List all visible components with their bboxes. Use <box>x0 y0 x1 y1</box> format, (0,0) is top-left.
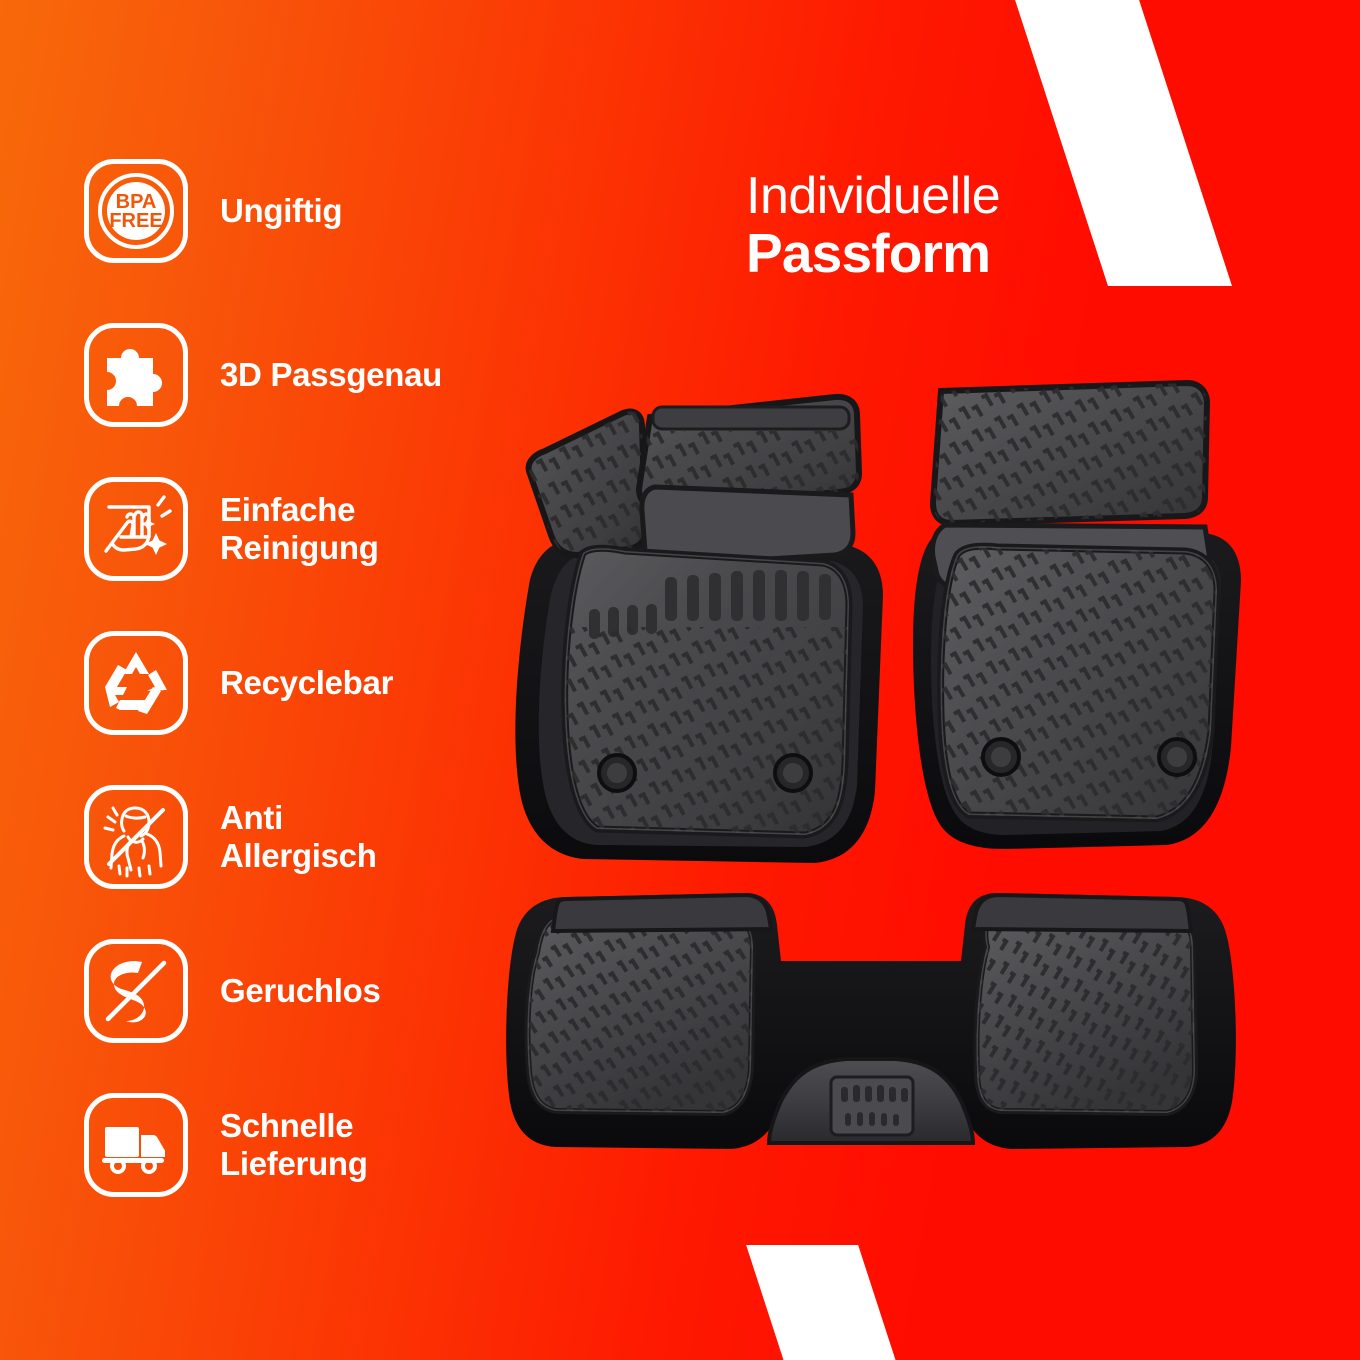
recycle-icon <box>84 631 188 735</box>
puzzle-piece-icon <box>84 323 188 427</box>
feature-label: Ungiftig <box>220 192 342 230</box>
easy-cleaning-icon <box>84 477 188 581</box>
feature-label: 3D Passgenau <box>220 356 442 394</box>
bpa-free-icon: BPA FREE <box>84 159 188 263</box>
infographic-canvas: Individuelle Passform <box>0 0 1360 1360</box>
feature-label: Geruchlos <box>220 972 381 1010</box>
feature-item-anti-allergisch: Anti Allergisch <box>84 784 377 890</box>
feature-label: Einfache Reinigung <box>220 491 379 566</box>
feature-item-schnelle-lieferung: Schnelle Lieferung <box>84 1092 368 1198</box>
front-left-floor-mat <box>505 355 895 865</box>
feature-label: Schnelle Lieferung <box>220 1107 368 1182</box>
feature-label: Anti Allergisch <box>220 799 377 874</box>
feature-item-3d-passgenau: 3D Passgenau <box>84 322 442 428</box>
feature-item-geruchlos: Geruchlos <box>84 938 381 1044</box>
odorless-icon <box>84 939 188 1043</box>
feature-label: Recyclebar <box>220 664 393 702</box>
svg-text:FREE: FREE <box>109 210 162 232</box>
fast-delivery-icon <box>84 1093 188 1197</box>
feature-item-einfache-reinigung: Einfache Reinigung <box>84 476 379 582</box>
feature-item-ungiftig: BPA FREE Ungiftig <box>84 158 342 264</box>
anti-allergy-icon <box>84 785 188 889</box>
feature-list: BPA FREE Ungiftig 3D Passgenau <box>0 0 520 1360</box>
feature-item-recyclebar: Recyclebar <box>84 630 393 736</box>
rear-floor-mat <box>495 865 1245 1155</box>
front-right-floor-mat <box>905 375 1255 855</box>
